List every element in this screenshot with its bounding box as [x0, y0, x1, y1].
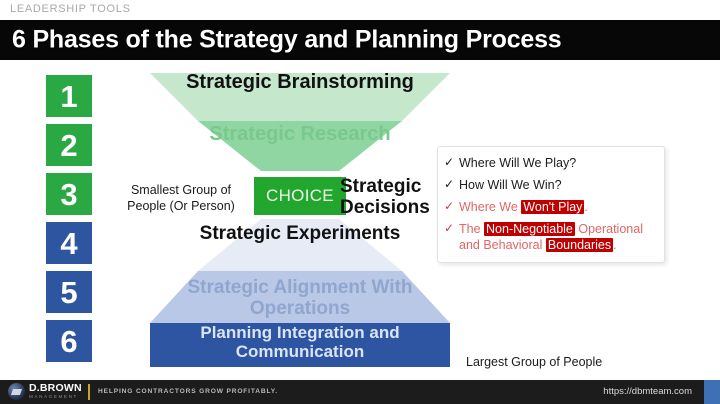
checklist-item: ✓ The Non-Negotiable Operational and Beh… [444, 221, 658, 253]
phase-chip-3: 3 [46, 173, 92, 215]
brand-mark-icon [8, 383, 25, 400]
checklist-text-pre: Where We [459, 200, 521, 214]
checklist-highlight: Boundaries [546, 238, 613, 252]
label-brainstorming: Strategic Brainstorming [150, 71, 450, 93]
phase-number-column: 1 2 3 4 5 6 [46, 75, 92, 369]
page-title: 6 Phases of the Strategy and Planning Pr… [12, 26, 562, 55]
phase-number-4: 4 [60, 228, 77, 259]
checklist-item-label: Where We Won't Play. [459, 199, 658, 215]
choice-box: CHOICE [254, 177, 346, 215]
label-experiments: Strategic Experiments [150, 223, 450, 244]
largest-group-label: Largest Group of People [466, 355, 602, 369]
phase-number-6: 6 [60, 326, 77, 357]
footer-bar: D.BROWN MANAGEMENT HELPING CONTRACTORS G… [0, 380, 720, 404]
choice-label: CHOICE [266, 186, 334, 206]
checklist-item: ✓ Where Will We Play? [444, 155, 658, 171]
brand-logo: D.BROWN MANAGEMENT [8, 383, 82, 400]
checklist-highlight: Non-Negotiable [484, 222, 575, 236]
checklist-item-label: The Non-Negotiable Operational and Behav… [459, 221, 658, 253]
phase-chip-2: 2 [46, 124, 92, 166]
footer-accent-block [704, 380, 720, 404]
check-icon: ✓ [444, 221, 459, 236]
checklist-text-post: . [584, 200, 587, 214]
checklist-item: ✓ Where We Won't Play. [444, 199, 658, 215]
footer-divider [88, 384, 90, 400]
phase-chip-5: 5 [46, 271, 92, 313]
title-bar: 6 Phases of the Strategy and Planning Pr… [0, 20, 720, 60]
phase-chip-1: 1 [46, 75, 92, 117]
phase-number-2: 2 [60, 130, 77, 161]
brand-tagline: HELPING CONTRACTORS GROW PROFITABLY. [98, 388, 278, 395]
eyebrow-label: LEADERSHIP TOOLS [10, 3, 131, 15]
label-alignment: Strategic Alignment With Operations [150, 277, 450, 320]
slide: LEADERSHIP TOOLS 6 Phases of the Strateg… [0, 0, 720, 404]
brand-subtitle: MANAGEMENT [29, 395, 82, 400]
decision-checklist-card: ✓ Where Will We Play? ✓ How Will We Win?… [437, 146, 665, 263]
phase-number-3: 3 [60, 179, 77, 210]
checklist-text-pre: The [459, 222, 484, 236]
check-icon: ✓ [444, 177, 459, 192]
checklist-item-label: Where Will We Play? [459, 155, 658, 171]
check-icon: ✓ [444, 199, 459, 214]
label-research: Strategic Research [150, 123, 450, 145]
checklist-item-label: How Will We Win? [459, 177, 658, 193]
brand-name: D.BROWN [29, 383, 82, 394]
hourglass-diagram: CHOICE Strategic Brainstorming Strategic… [150, 73, 450, 373]
footer-url[interactable]: https://dbmteam.com [603, 386, 692, 397]
label-planning: Planning Integration and Communication [150, 323, 450, 361]
check-icon: ✓ [444, 155, 459, 170]
phase-chip-4: 4 [46, 222, 92, 264]
checklist-highlight: Won't Play [521, 200, 584, 214]
phase-number-1: 1 [60, 81, 77, 112]
phase-chip-6: 6 [46, 320, 92, 362]
checklist-item: ✓ How Will We Win? [444, 177, 658, 193]
smallest-group-label: Smallest Group of People (Or Person) [116, 182, 246, 215]
phase-number-5: 5 [60, 277, 77, 308]
checklist-text-post: . [613, 238, 616, 252]
